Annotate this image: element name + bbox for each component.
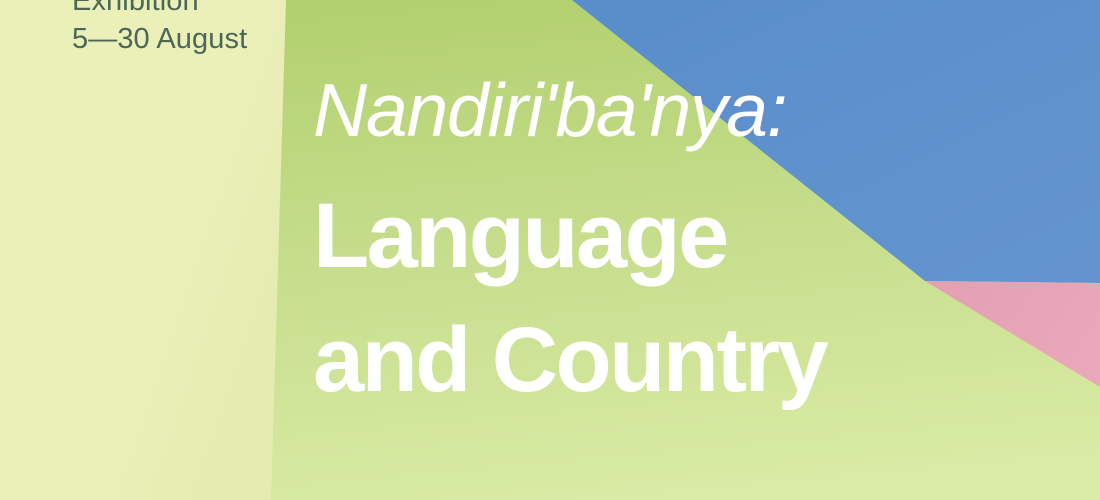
dates-label: 5—30 August: [72, 20, 247, 58]
eyebrow-label: Exhibition: [72, 0, 247, 20]
title-line-primary: Nandiri'ba'nya:: [313, 73, 1093, 148]
meta-block: Exhibition 5—30 August: [72, 0, 247, 59]
exhibition-poster: Exhibition 5—30 August Nandiri'ba'nya: L…: [0, 0, 1100, 500]
page-title: Nandiri'ba'nya: Language and Country: [313, 73, 1093, 406]
title-line-secondary: Language: [313, 190, 1093, 282]
title-line-tertiary: and Country: [313, 314, 1093, 406]
pale-left-panel: [0, 0, 286, 500]
